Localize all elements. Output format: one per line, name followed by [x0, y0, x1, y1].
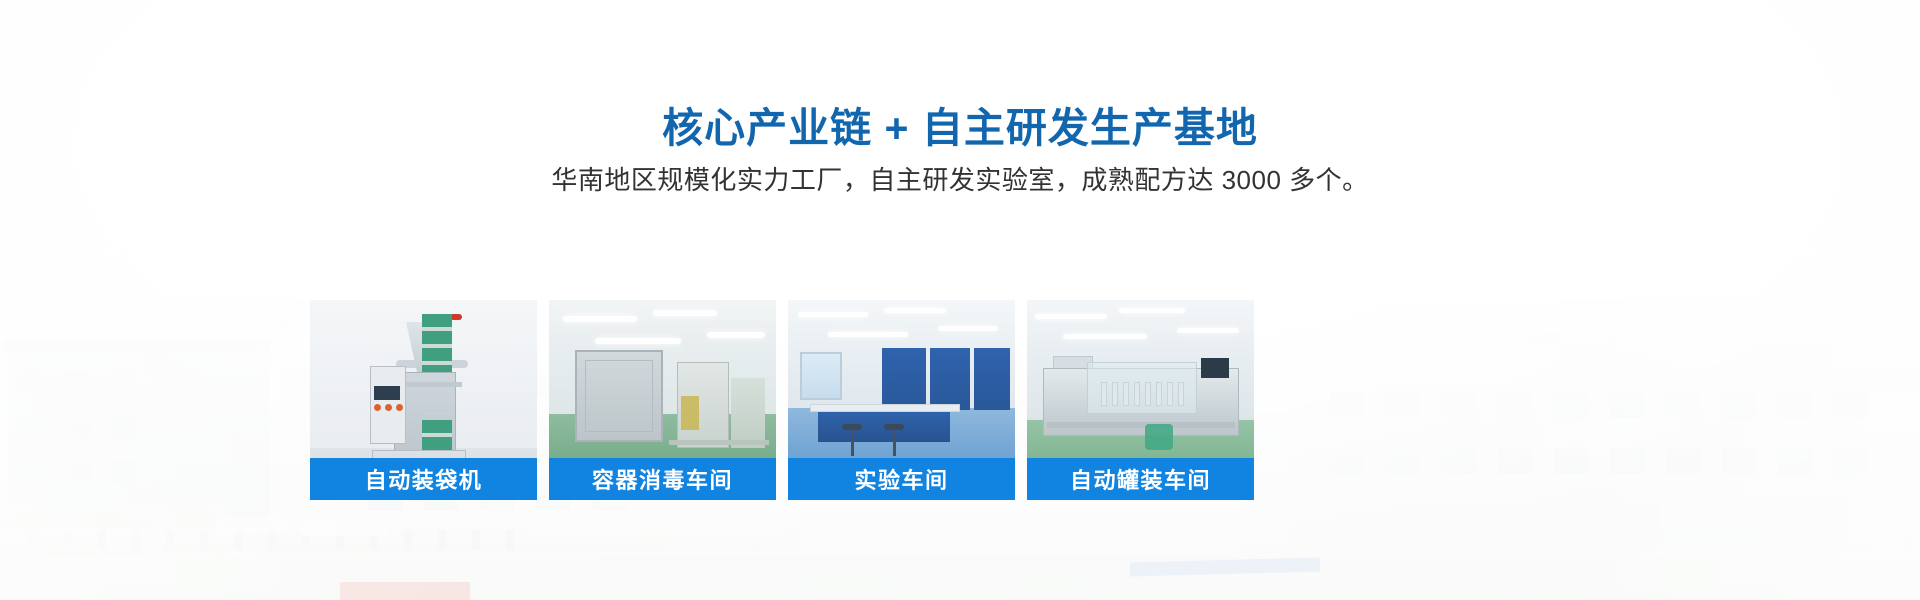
lab-cabinet [930, 348, 970, 410]
conveyor-rail [1047, 422, 1235, 428]
bottle-row [1101, 382, 1184, 406]
lab-stool-leg [851, 430, 854, 456]
machine-buttons [374, 404, 403, 411]
bottle [1134, 382, 1140, 406]
ceiling-light [1035, 314, 1107, 319]
lab-cabinet [882, 348, 926, 410]
bottle [1156, 382, 1162, 406]
machine-button [396, 404, 403, 411]
ceiling-light [595, 338, 681, 344]
lab-stool-leg [893, 430, 896, 456]
machine-button [374, 404, 381, 411]
bottle [1112, 382, 1118, 406]
facility-card-label: 自动罐装车间 [1027, 458, 1254, 500]
sterilizer-door-inset [585, 360, 653, 432]
factory-capability-banner: 核心产业链 + 自主研发生产基地 华南地区规模化实力工厂，自主研发实验室，成熟配… [0, 0, 1920, 600]
lab-window [800, 352, 842, 400]
facility-card-list: 自动装袋机 容器消 [310, 300, 1610, 500]
sterilizer-pipe [669, 440, 769, 445]
facility-card-container-sterilization[interactable]: 容器消毒车间 [549, 300, 776, 500]
banner-content: 核心产业链 + 自主研发生产基地 华南地区规模化实力工厂，自主研发实验室，成熟配… [0, 0, 1920, 600]
sterilizer-door [575, 350, 663, 442]
bottle [1178, 382, 1184, 406]
ceiling-light [884, 308, 946, 313]
machine-cross-bar [398, 382, 462, 387]
machine-display [374, 386, 400, 400]
ceiling-light [1063, 334, 1147, 339]
facility-card-automatic-filling[interactable]: 自动罐装车间 [1027, 300, 1254, 500]
lab-cabinet [974, 348, 1010, 410]
bottle [1101, 382, 1107, 406]
bottle [1167, 382, 1173, 406]
ceiling-light [1119, 308, 1185, 313]
sterilizer-cabinet [731, 378, 765, 448]
bottle [1145, 382, 1151, 406]
filling-machine-display [1201, 358, 1229, 378]
product-crate [1145, 424, 1173, 450]
facility-card-laboratory[interactable]: 实验车间 [788, 300, 1015, 500]
machine-button [385, 404, 392, 411]
page-title: 核心产业链 + 自主研发生产基地 [0, 94, 1920, 154]
sterilizer-panel [681, 396, 699, 430]
ceiling-light [563, 316, 637, 322]
facility-card-label: 自动装袋机 [310, 458, 537, 500]
lab-bench-top [810, 404, 960, 412]
page-subtitle: 华南地区规模化实力工厂，自主研发实验室，成熟配方达 3000 多个。 [0, 160, 1920, 197]
facility-card-label: 容器消毒车间 [549, 458, 776, 500]
ceiling-light [707, 332, 765, 338]
ceiling-light [1177, 328, 1239, 333]
facility-card-bagging-machine[interactable]: 自动装袋机 [310, 300, 537, 500]
facility-card-label: 实验车间 [788, 458, 1015, 500]
ceiling-light [828, 332, 908, 337]
ceiling-light [798, 312, 868, 317]
ceiling-light [653, 310, 717, 316]
ceiling-light [938, 326, 998, 331]
bottle [1123, 382, 1129, 406]
